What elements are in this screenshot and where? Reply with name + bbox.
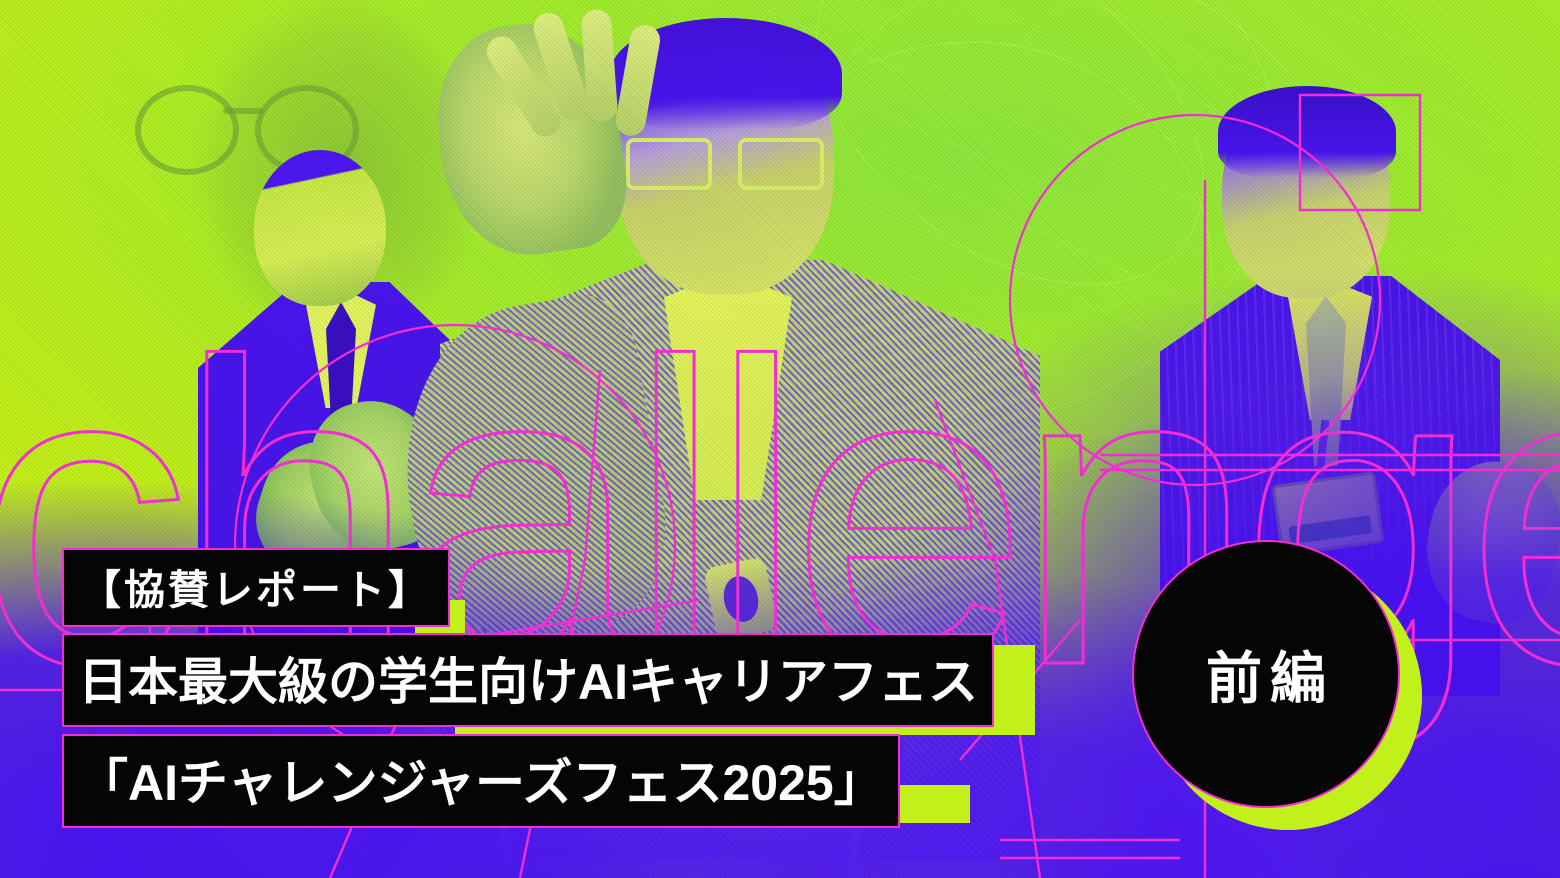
kicker-label: 【協賛レポート】 [62, 548, 450, 627]
badge-label: 前編 [1198, 634, 1334, 715]
title-block: 【協賛レポート】 日本最大級の学生向けAIキャリアフェス 「AIチャレンジャーズ… [62, 548, 994, 828]
badge-disc: 前編 [1132, 540, 1400, 808]
part-badge: 前編 [1132, 540, 1432, 840]
headline-line-2: 「AIチャレンジャーズフェス2025」 [62, 734, 900, 828]
poster-canvas: challengers 【協賛レポート】 日本最大級の学生向けAIキャリアフェス… [0, 0, 1560, 878]
headline-line-1: 日本最大級の学生向けAIキャリアフェス [62, 633, 994, 727]
